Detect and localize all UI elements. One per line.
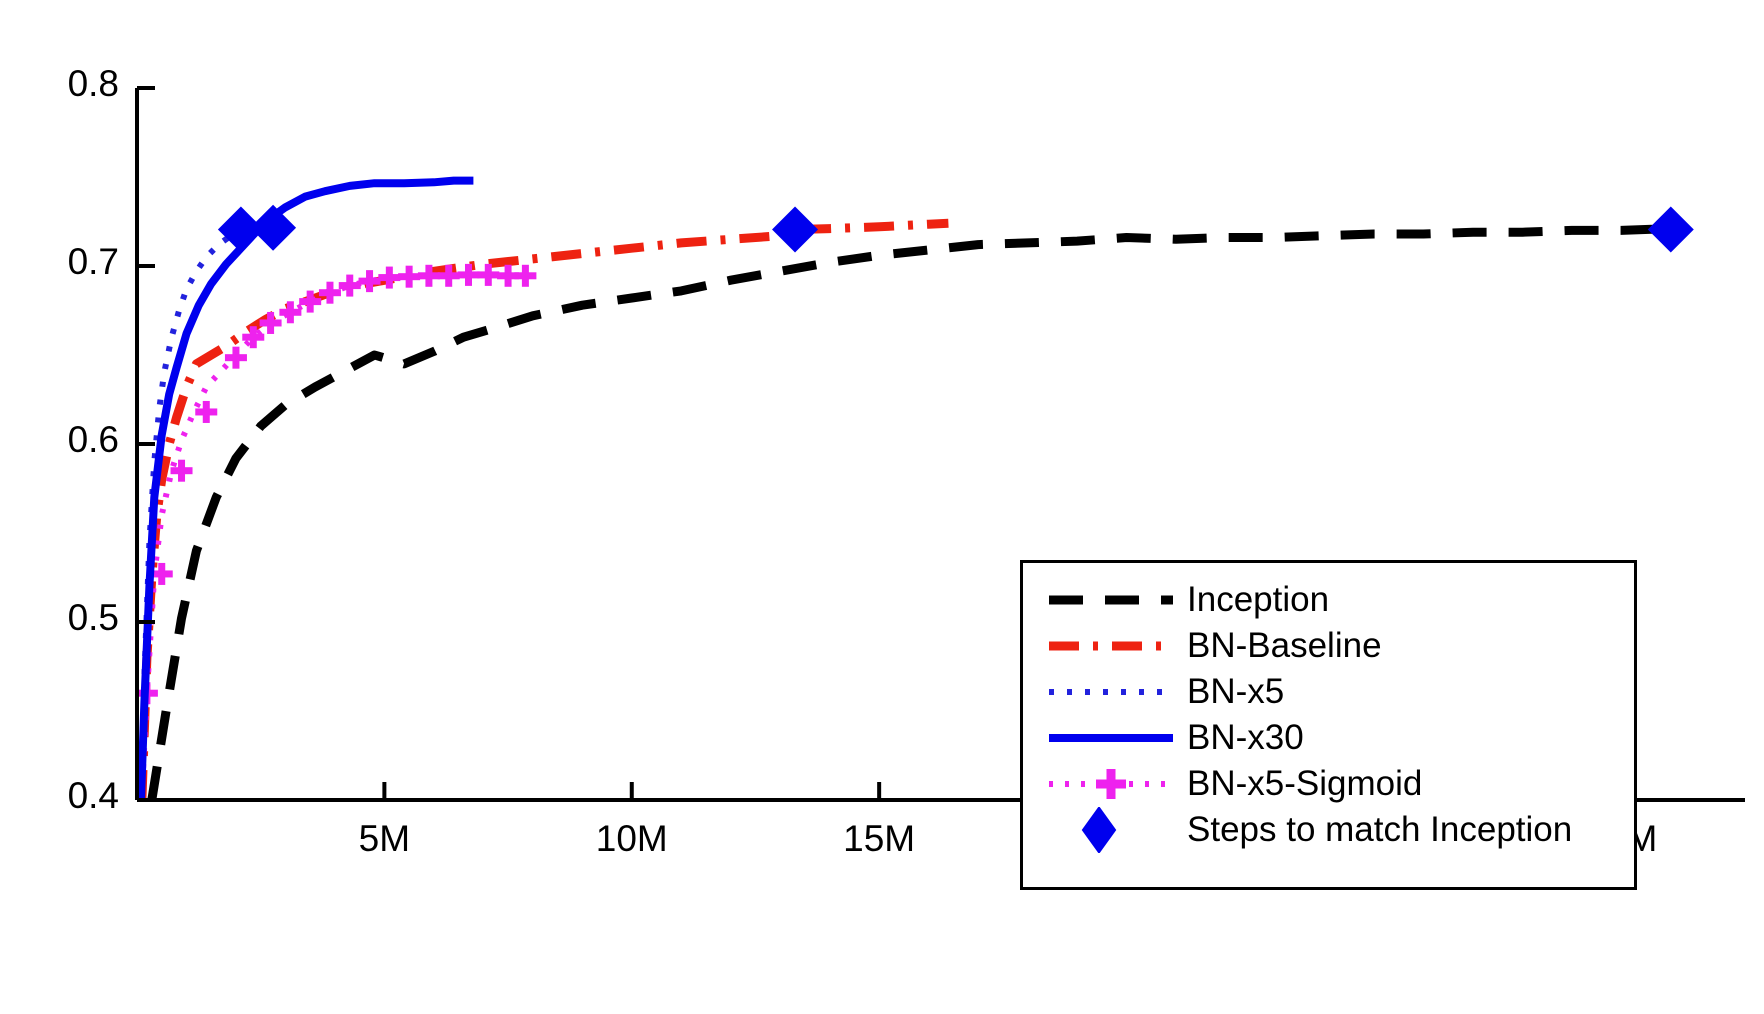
y-tick-label: 0.4	[68, 775, 119, 817]
legend-item-steps-to-match-inception[interactable]: Steps to match Inception	[1045, 807, 1634, 853]
steps-to-match-inception-marker	[772, 207, 818, 253]
series-line-bn-baseline	[142, 223, 949, 800]
legend-sample-dashed	[1045, 577, 1177, 623]
legend-swatch-icon	[1045, 807, 1177, 853]
x-tick-label: 5M	[339, 818, 429, 860]
legend-item-bn-x5[interactable]: BN-x5	[1045, 669, 1634, 715]
legend-swatch-icon	[1045, 623, 1177, 669]
legend-item-bn-x30[interactable]: BN-x30	[1045, 715, 1634, 761]
legend-item-label: BN-x5-Sigmoid	[1177, 764, 1422, 804]
steps-to-match-inception-marker	[250, 205, 296, 251]
legend-item-label: Steps to match Inception	[1177, 810, 1572, 850]
legend-item-bn-x5-sigmoid[interactable]: BN-x5-Sigmoid	[1045, 761, 1634, 807]
chart-legend: InceptionBN-BaselineBN-x5BN-x30BN-x5-Sig…	[1020, 560, 1637, 890]
legend-item-label: BN-x5	[1177, 672, 1284, 712]
legend-item-bn-baseline[interactable]: BN-Baseline	[1045, 623, 1634, 669]
x-tick-label: 10M	[587, 818, 677, 860]
legend-item-label: BN-Baseline	[1177, 626, 1382, 666]
steps-to-match-inception-marker	[1648, 207, 1694, 253]
legend-swatch-icon	[1045, 669, 1177, 715]
legend-item-inception[interactable]: Inception	[1045, 577, 1634, 623]
y-tick-label: 0.7	[68, 241, 119, 283]
legend-sample-dashdot	[1045, 623, 1177, 669]
legend-swatch-icon	[1045, 761, 1177, 807]
legend-sample-solid	[1045, 715, 1177, 761]
legend-sample-dotted	[1045, 669, 1177, 715]
series-line-bn-x5-sigmoid	[142, 275, 526, 800]
legend-sample-dotted-plus	[1045, 761, 1177, 807]
x-tick-label: 15M	[834, 818, 924, 860]
legend-item-label: BN-x30	[1177, 718, 1304, 758]
y-tick-label: 0.6	[68, 419, 119, 461]
legend-swatch-icon	[1045, 715, 1177, 761]
y-tick-label: 0.8	[68, 63, 119, 105]
legend-swatch-icon	[1045, 577, 1177, 623]
chart-figure: 0.40.50.60.70.8 5M10M15M20M25M30M Incept…	[0, 0, 1764, 1014]
y-tick-label: 0.5	[68, 597, 119, 639]
legend-sample-diamond	[1045, 807, 1177, 853]
legend-item-label: Inception	[1177, 580, 1329, 620]
